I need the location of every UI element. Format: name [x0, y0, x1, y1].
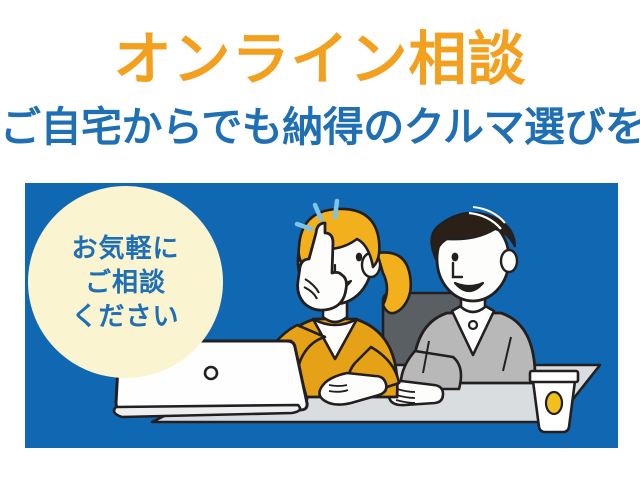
- illustration-panel: お気軽に ご相談 ください: [25, 183, 618, 448]
- page-title: オンライン相談: [0, 28, 640, 92]
- callout-line-2: ご相談: [85, 265, 166, 299]
- page-subtitle: ご自宅からでも納得のクルマ選びを: [0, 104, 640, 150]
- coffee-cup-icon: [530, 371, 578, 432]
- online-consultation-banner: オンライン相談 ご自宅からでも納得のクルマ選びを: [0, 0, 640, 480]
- callout-line-3: ください: [71, 299, 179, 333]
- callout-line-1: お気軽に: [71, 231, 179, 265]
- callout-bubble: お気軽に ご相談 ください: [28, 186, 223, 378]
